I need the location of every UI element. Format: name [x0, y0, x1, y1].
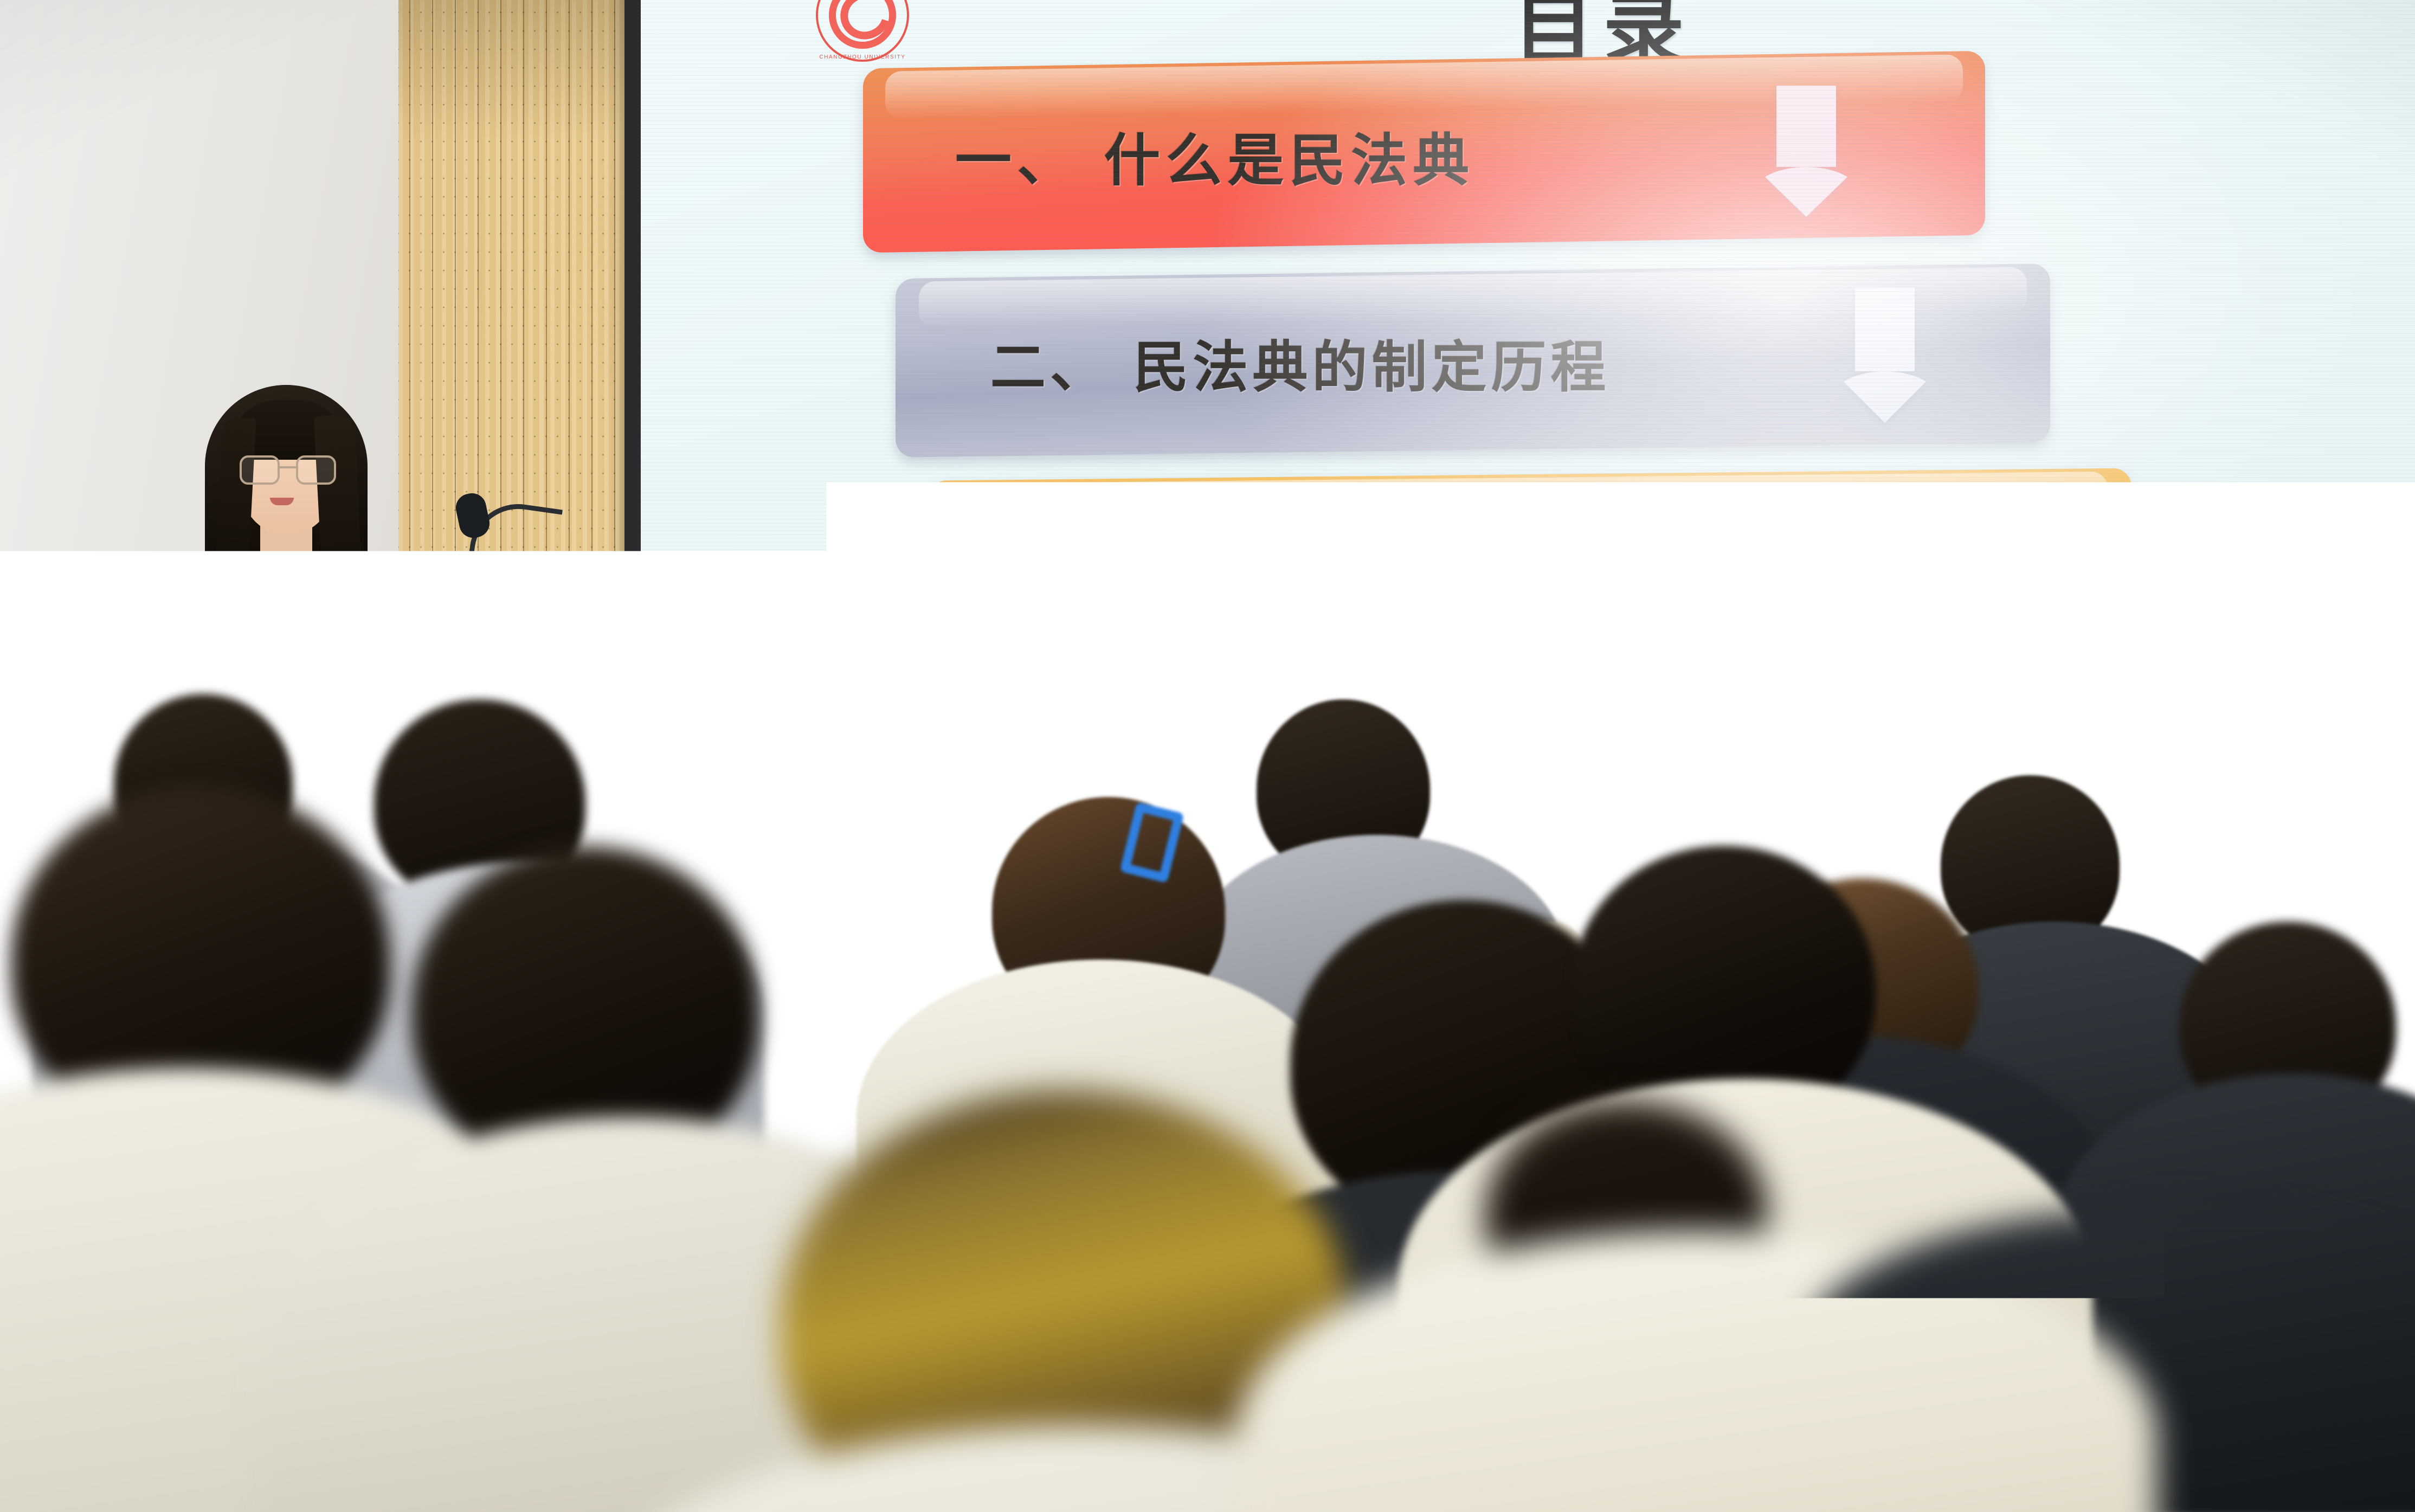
- arrow-head: [1833, 371, 1936, 423]
- arrow-shaft: [1776, 86, 1836, 167]
- outlet-slot-top: [2303, 885, 2315, 887]
- down-arrow-icon-1: [1755, 86, 1858, 217]
- eyeglass-lens-right: [296, 455, 336, 485]
- down-arrow-icon-2: [1833, 287, 1936, 423]
- folding-tablet-desk: [754, 1047, 840, 1089]
- head: [1014, 677, 1106, 772]
- eyeglasses: [240, 455, 336, 485]
- outlet-slot-bottom: [2308, 899, 2311, 906]
- torso: [11, 1263, 824, 1512]
- podium-top-edge: [142, 601, 543, 622]
- lecture-hall-photo: 常州大学 CHANGZHOU UNIVERSITY 目录 一、 什么是民法典 二…: [0, 0, 2415, 1512]
- projection-screen: 常州大学 CHANGZHOU UNIVERSITY 目录 一、 什么是民法典 二…: [641, 0, 2415, 842]
- wall-power-outlet-right: [2297, 873, 2321, 909]
- arrow-head: [1755, 167, 1858, 217]
- podium-bevel: [142, 635, 543, 641]
- agenda-item-3-label: 三、 民法典的具体内容: [1026, 529, 1663, 611]
- agenda-item-3: 三、 民法典的具体内容: [928, 468, 2131, 667]
- agenda-item-1-label: 一、 什么是民法典: [955, 114, 1474, 196]
- agenda-item-2-label: 二、 民法典的制定历程: [990, 323, 1611, 403]
- bar-gloss: [952, 472, 2107, 532]
- projection-screen-frame: 常州大学 CHANGZHOU UNIVERSITY 目录 一、 什么是民法典 二…: [624, 0, 2415, 867]
- eyeglass-bridge: [280, 466, 296, 468]
- arrow-shaft: [1855, 287, 1915, 371]
- eyeglass-lens-left: [240, 455, 280, 485]
